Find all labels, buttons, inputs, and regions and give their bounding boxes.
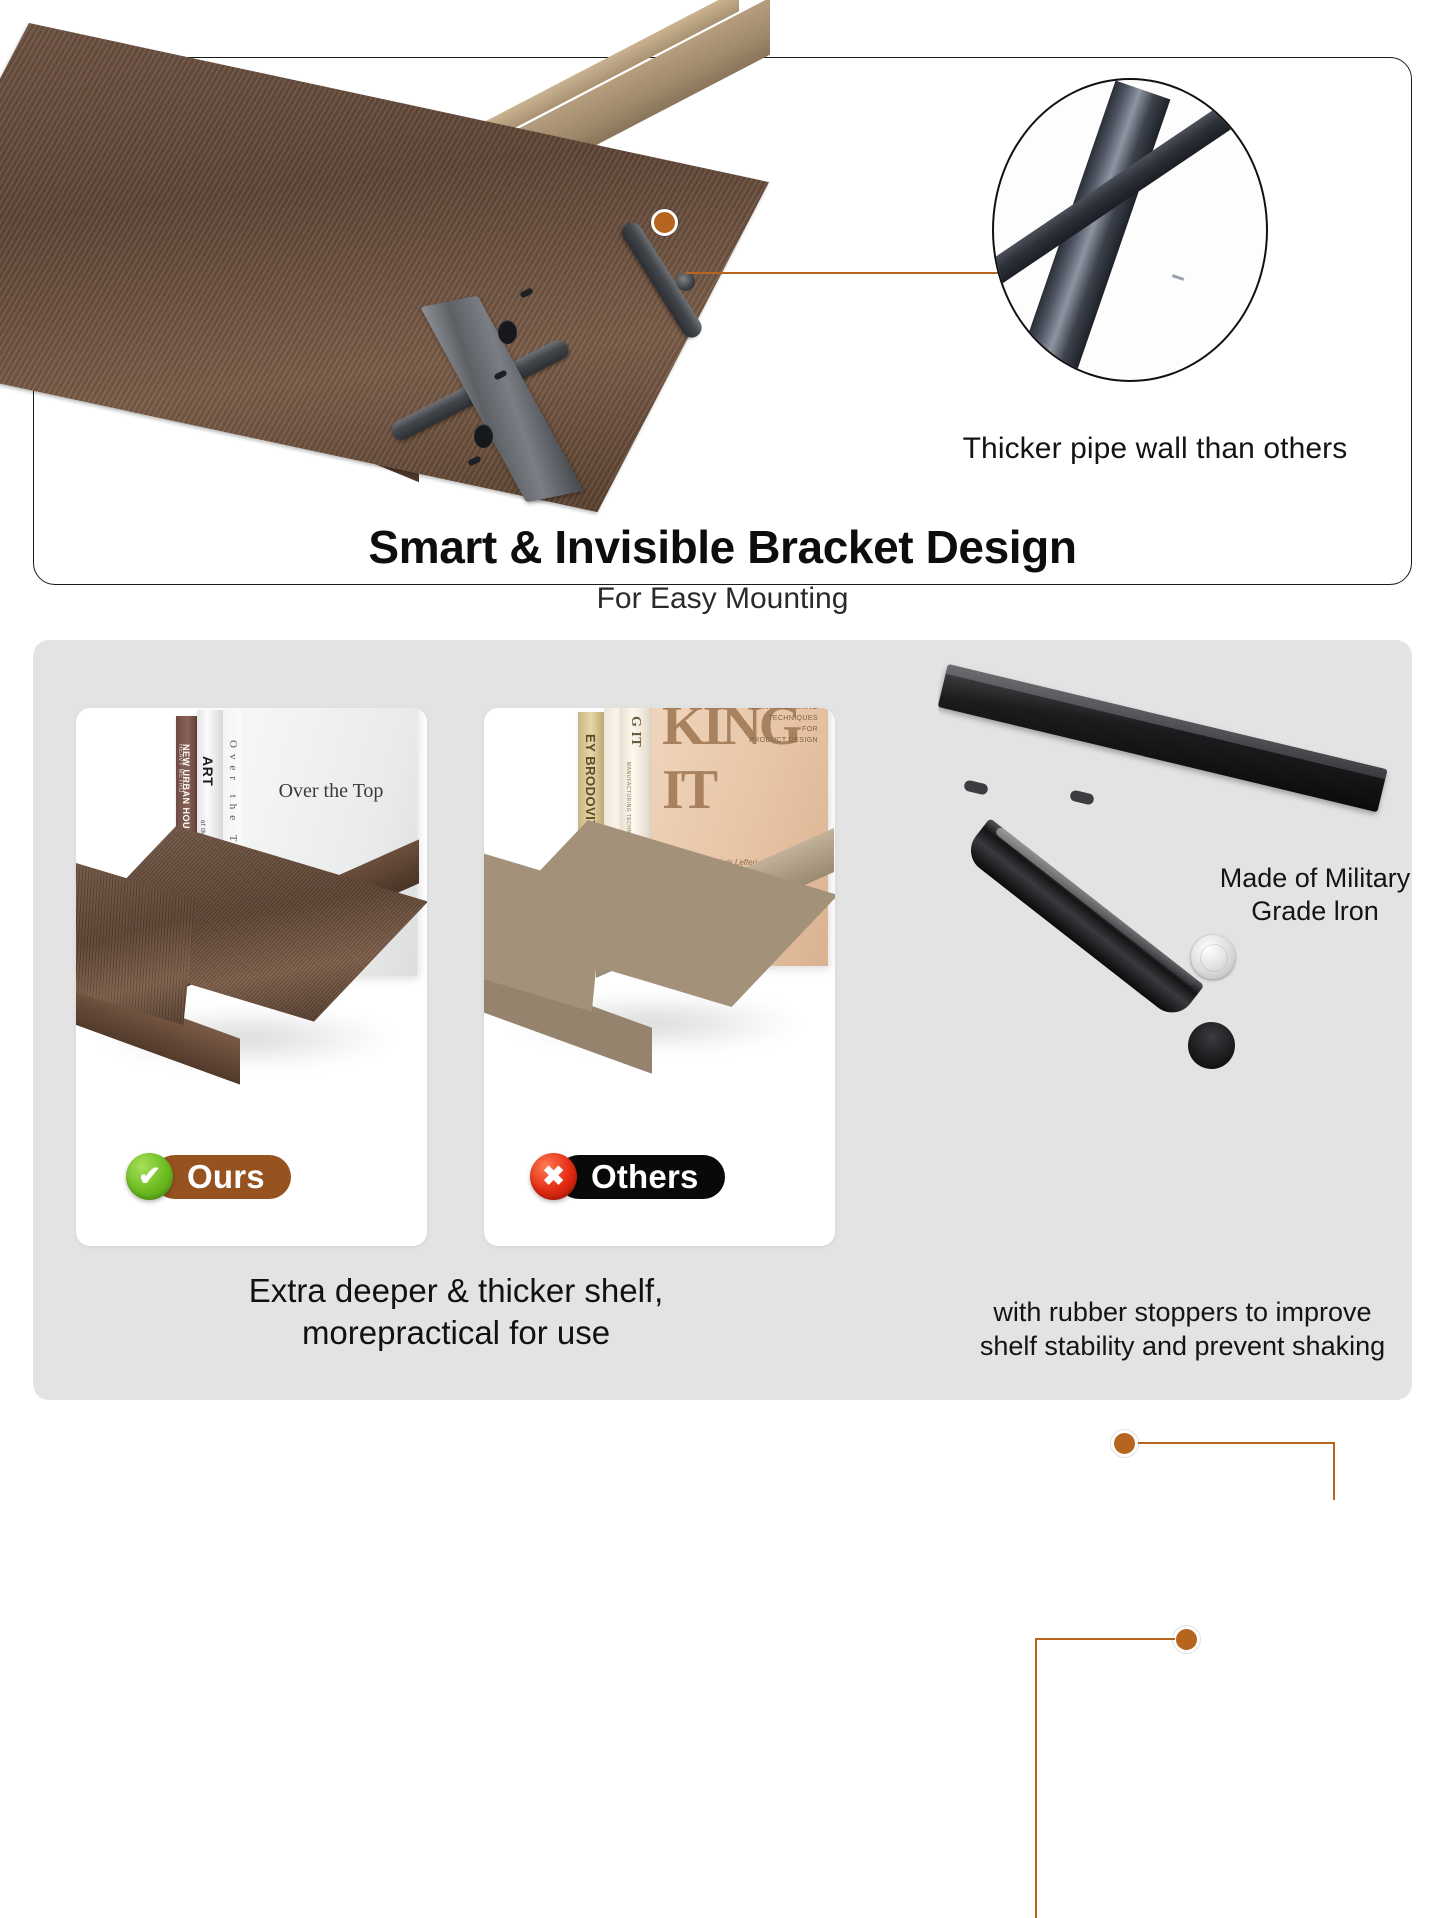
comparison-card-ours: NEW URBAN HOUSING HEAVY METRO ART of the…: [76, 708, 427, 1246]
callout-label-thicker-pipe: Thicker pipe wall than others: [920, 432, 1390, 466]
rubber-stopper-icon: [1191, 935, 1235, 979]
callout-leader-thicker-pipe: [685, 270, 1005, 276]
leader-military-vertical: [1333, 1442, 1335, 1500]
magnified-pipe-wall-inset: [992, 78, 1268, 382]
callout-label-military-grade: Made of Military Grade lron: [1190, 862, 1440, 928]
bracket-slot-3: [467, 455, 481, 466]
comparison-caption: Extra deeper & thicker shelf, morepracti…: [76, 1270, 836, 1354]
comparison-caption-line1: Extra deeper & thicker shelf,: [76, 1270, 836, 1312]
black-t-bracket-photo: [938, 650, 1408, 1270]
bracket-round-pipe: [962, 818, 1205, 1022]
leader-rubber-horizontal: [1035, 1638, 1175, 1640]
cross-icon: ✖: [530, 1153, 577, 1200]
check-icon: ✔: [126, 1153, 173, 1200]
leader-military-horizontal: [1138, 1442, 1335, 1444]
bracket-slot-1: [519, 287, 533, 298]
badge-others: ✖ Others: [530, 1153, 725, 1200]
comparison-and-material-panel: NEW URBAN HOUSING HEAVY METRO ART of the…: [33, 640, 1412, 1400]
badge-ours: ✔ Ours: [126, 1153, 291, 1200]
book-title-art: ART: [200, 756, 216, 786]
book-cover-line2: TECHNIQUES: [768, 715, 818, 722]
bracket-pipe-open-end: [1179, 1013, 1245, 1079]
bracket-hole-2: [474, 424, 493, 448]
callout-military-line1: Made of Military: [1190, 862, 1440, 895]
leader-rubber-vertical: [1035, 1638, 1037, 1918]
panel-subheadline: For Easy Mounting: [34, 582, 1411, 616]
panel-headline: Smart & Invisible Bracket Design: [34, 520, 1411, 574]
book-cover-title-over-the-top: Over the Top: [245, 780, 417, 803]
book-cover-line4: PRODUCT DESIGN: [749, 737, 818, 744]
others-shelf-scene: EY BRODOVITCH G IT MANUFACTURING TECHNOL…: [484, 708, 835, 1108]
bracket-pipe-highlight: [994, 826, 1197, 987]
callout-military-line2: Grade lron: [1190, 895, 1440, 928]
book-cover-line3: FOR: [802, 726, 818, 733]
badge-label-ours: Ours: [153, 1155, 291, 1199]
bracket-hole-1: [498, 320, 517, 344]
callout-rubber-line1: with rubber stoppers to improve: [925, 1296, 1440, 1330]
bracket-photo-slot-2: [963, 779, 989, 795]
badge-label-others: Others: [557, 1155, 725, 1199]
smart-bracket-design-panel: Thicker pipe wall than others Smart & In…: [33, 57, 1412, 585]
leader-line-horizontal: [685, 272, 1005, 274]
callout-rubber-line2: shelf stability and prevent shaking: [925, 1330, 1440, 1364]
callout-dot-rubber-stopper: [1173, 1626, 1200, 1653]
comparison-card-others: EY BRODOVITCH G IT MANUFACTURING TECHNOL…: [484, 708, 835, 1246]
callout-dot-thicker-pipe: [651, 209, 678, 236]
callout-label-rubber-stoppers: with rubber stoppers to improve shelf st…: [925, 1296, 1440, 1364]
book-cover-line1: MANUFACTURING: [752, 708, 818, 711]
ours-shelf-scene: NEW URBAN HOUSING HEAVY METRO ART of the…: [76, 708, 427, 1108]
comparison-caption-line2: morepractical for use: [76, 1312, 836, 1354]
book-subtitle-new-urban-housing: HEAVY METRO: [177, 744, 183, 793]
bracket-photo-slot-1: [1069, 789, 1095, 805]
book-title-g-it: G IT: [627, 716, 643, 747]
callout-dot-military-grade: [1111, 1430, 1138, 1457]
magnified-wall-thickness-mark: [1172, 274, 1184, 281]
